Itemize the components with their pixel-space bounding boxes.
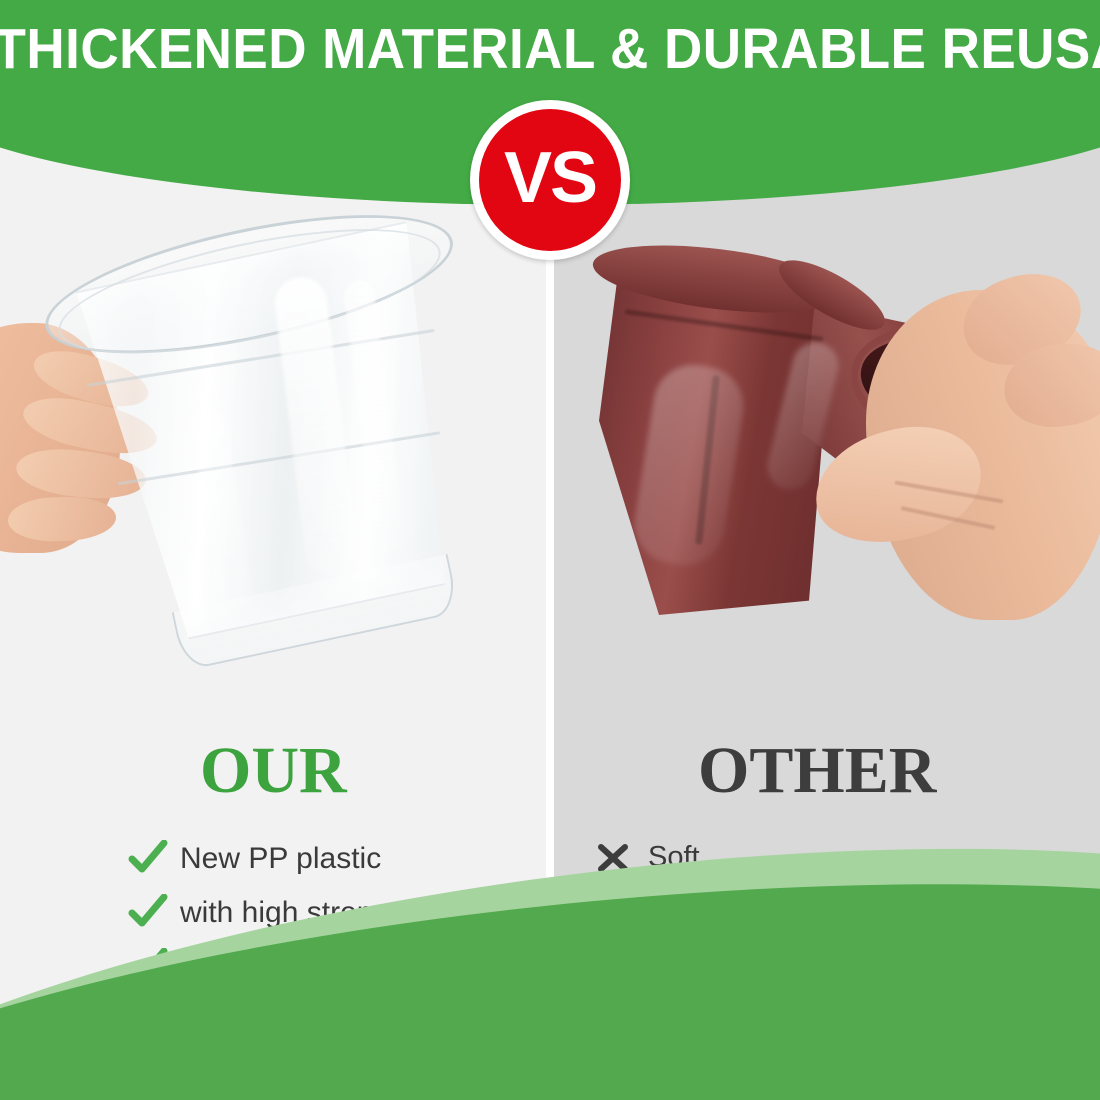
bottom-green-fill bbox=[0, 1064, 1100, 1100]
clear-plastic-pot bbox=[0, 185, 546, 699]
versus-badge: VS bbox=[470, 100, 630, 260]
list-item: New PP plastic bbox=[128, 832, 530, 884]
our-product-photo bbox=[0, 185, 546, 715]
other-heading: OTHER bbox=[580, 738, 1080, 804]
hand-right bbox=[804, 240, 1100, 660]
check-icon bbox=[128, 890, 180, 934]
check-icon bbox=[128, 836, 180, 880]
versus-label: VS bbox=[504, 142, 596, 214]
versus-badge-circle: VS bbox=[479, 109, 621, 251]
our-heading: OUR bbox=[60, 738, 530, 804]
our-feature-text: New PP plastic bbox=[180, 842, 381, 875]
comparison-infographic: DTHICKENED MATERIAL & DURABLE REUSABLE V… bbox=[0, 0, 1100, 1100]
page-title: DTHICKENED MATERIAL & DURABLE REUSABLE bbox=[0, 21, 1100, 78]
other-product-photo bbox=[554, 210, 1100, 730]
